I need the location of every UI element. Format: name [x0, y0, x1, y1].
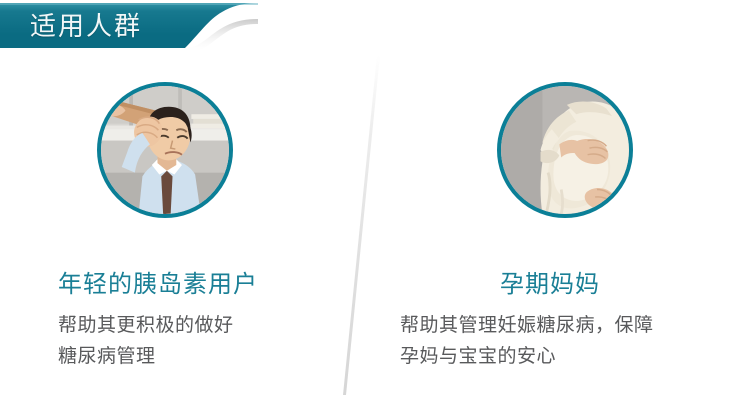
column-young-insulin-users: 年轻的胰岛素用户 帮助其更积极的做好 糖尿病管理 — [0, 82, 340, 218]
stressed-office-man-illustration — [101, 86, 229, 214]
description-line: 帮助其更积极的做好 — [58, 310, 234, 341]
description-line: 糖尿病管理 — [58, 341, 234, 372]
pregnant-woman-illustration — [501, 86, 629, 214]
stressed-office-man-photo — [101, 86, 229, 214]
page-title: 适用人群 — [30, 8, 200, 44]
pregnant-woman-photo — [501, 86, 629, 214]
young-insulin-users-photo-frame — [97, 82, 233, 218]
description-line: 帮助其管理妊娠糖尿病，保障 — [400, 310, 654, 341]
page-root: 适用人群 — [0, 0, 750, 416]
description-line: 孕妈与宝宝的安心 — [400, 341, 654, 372]
young-insulin-users-headline: 年轻的胰岛素用户 — [58, 264, 258, 299]
pregnant-mothers-photo-frame — [497, 82, 633, 218]
column-pregnant-mothers: 孕期妈妈 帮助其管理妊娠糖尿病，保障 孕妈与宝宝的安心 — [392, 82, 732, 218]
young-insulin-users-description: 帮助其更积极的做好 糖尿病管理 — [58, 310, 234, 372]
pregnant-mothers-headline: 孕期妈妈 — [500, 264, 600, 299]
section-header-banner: 适用人群 — [0, 0, 260, 56]
pregnant-mothers-description: 帮助其管理妊娠糖尿病，保障 孕妈与宝宝的安心 — [400, 310, 654, 372]
